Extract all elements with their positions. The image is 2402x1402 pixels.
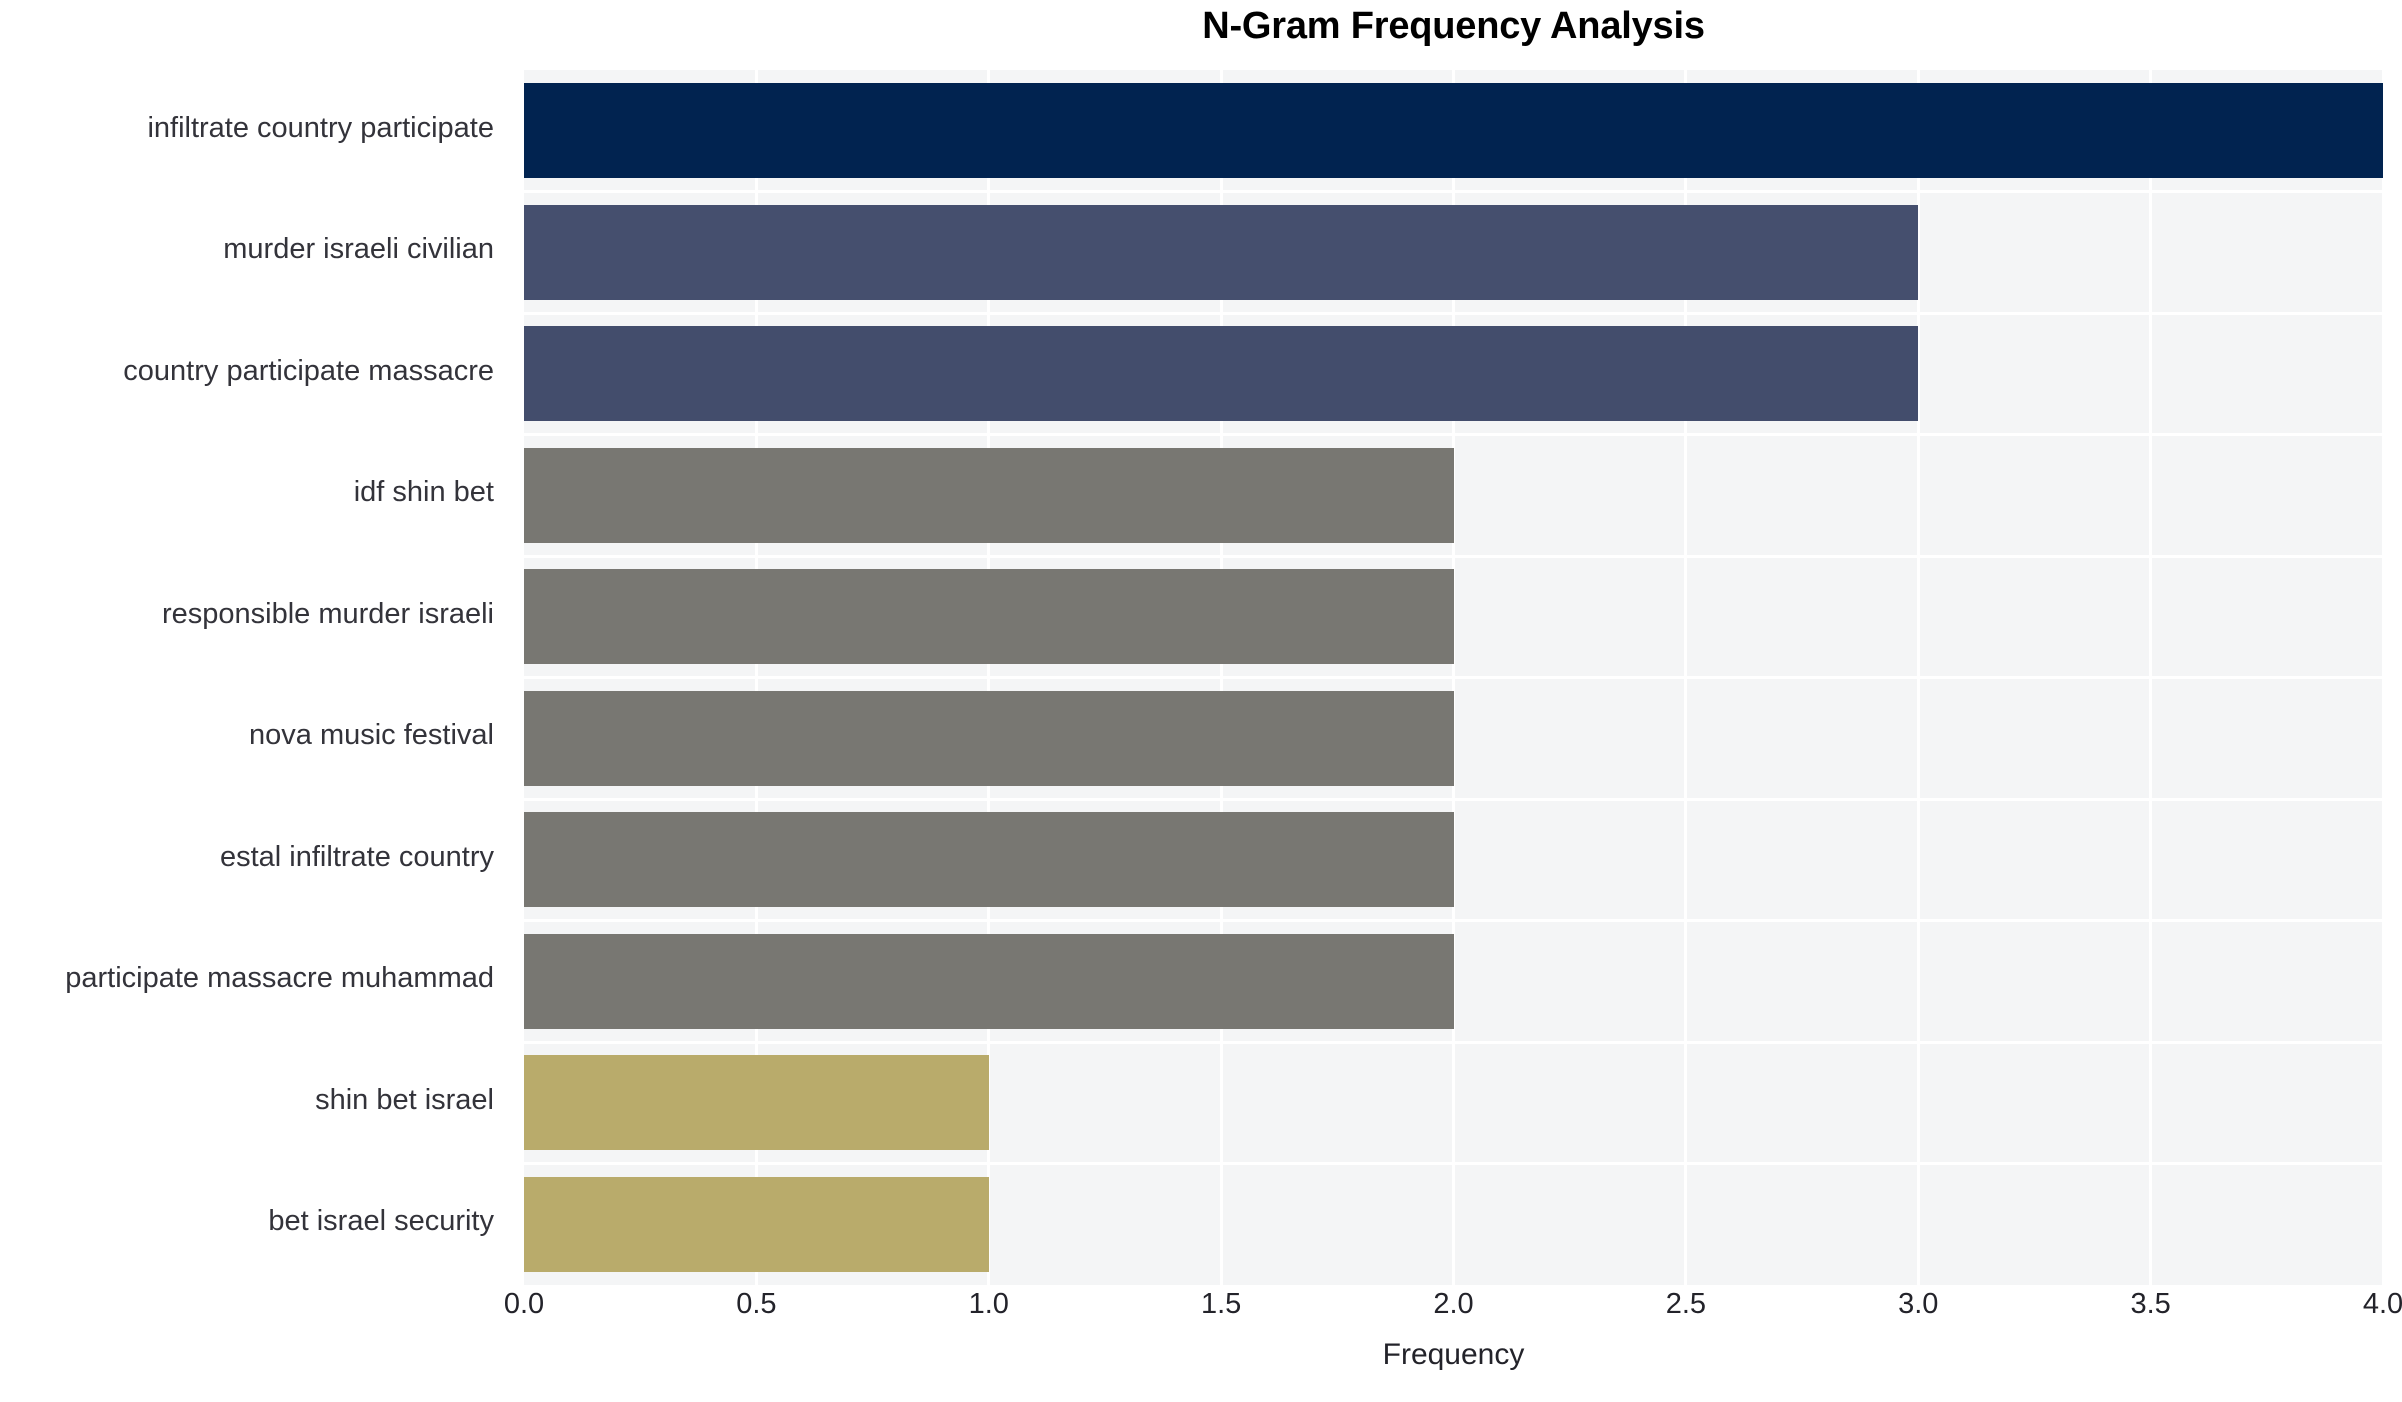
y-axis-label: murder israeli civilian [223,233,494,266]
bar[interactable] [524,1055,989,1150]
y-axis-label: participate massacre muhammad [65,962,494,995]
y-gridline [524,555,2383,558]
bar[interactable] [524,205,1918,300]
bar[interactable] [524,83,2383,178]
y-gridline [524,1041,2383,1044]
bar[interactable] [524,326,1918,421]
x-tick-label: 1.5 [1201,1288,1241,1321]
y-axis-label: infiltrate country participate [147,112,494,145]
y-gridline [524,312,2383,315]
bar[interactable] [524,934,1454,1029]
x-tick-label: 0.5 [736,1288,776,1321]
bar[interactable] [524,812,1454,907]
chart-figure: N-Gram Frequency Analysis infiltrate cou… [0,0,2402,1402]
y-axis-label: shin bet israel [315,1084,494,1117]
x-tick-label: 3.5 [2130,1288,2170,1321]
plot-area [524,70,2383,1285]
x-tick-label: 2.0 [1433,1288,1473,1321]
x-tick-label: 4.0 [2363,1288,2402,1321]
y-axis-label: country participate massacre [123,355,494,388]
y-gridline [524,1162,2383,1165]
x-axis-tick-labels: 0.00.51.01.52.02.53.03.54.0 [524,1288,2383,1334]
y-axis-label: idf shin bet [354,476,494,509]
x-tick-label: 1.0 [969,1288,1009,1321]
y-axis-label: nova music festival [249,719,494,752]
bar[interactable] [524,569,1454,664]
y-gridline [524,676,2383,679]
x-tick-label: 0.0 [504,1288,544,1321]
y-axis-label: responsible murder israeli [162,598,494,631]
y-gridline [524,190,2383,193]
y-gridline [524,798,2383,801]
y-gridline [524,433,2383,436]
y-axis-label: bet israel security [268,1205,494,1238]
x-axis-title: Frequency [524,1338,2383,1372]
y-axis-category-labels: infiltrate country participatemurder isr… [0,70,508,1285]
bar[interactable] [524,1177,989,1272]
x-tick-label: 3.0 [1898,1288,1938,1321]
y-gridline [524,919,2383,922]
bar[interactable] [524,448,1454,543]
y-axis-label: estal infiltrate country [220,841,494,874]
bar[interactable] [524,691,1454,786]
chart-title: N-Gram Frequency Analysis [524,2,2383,50]
x-tick-label: 2.5 [1666,1288,1706,1321]
